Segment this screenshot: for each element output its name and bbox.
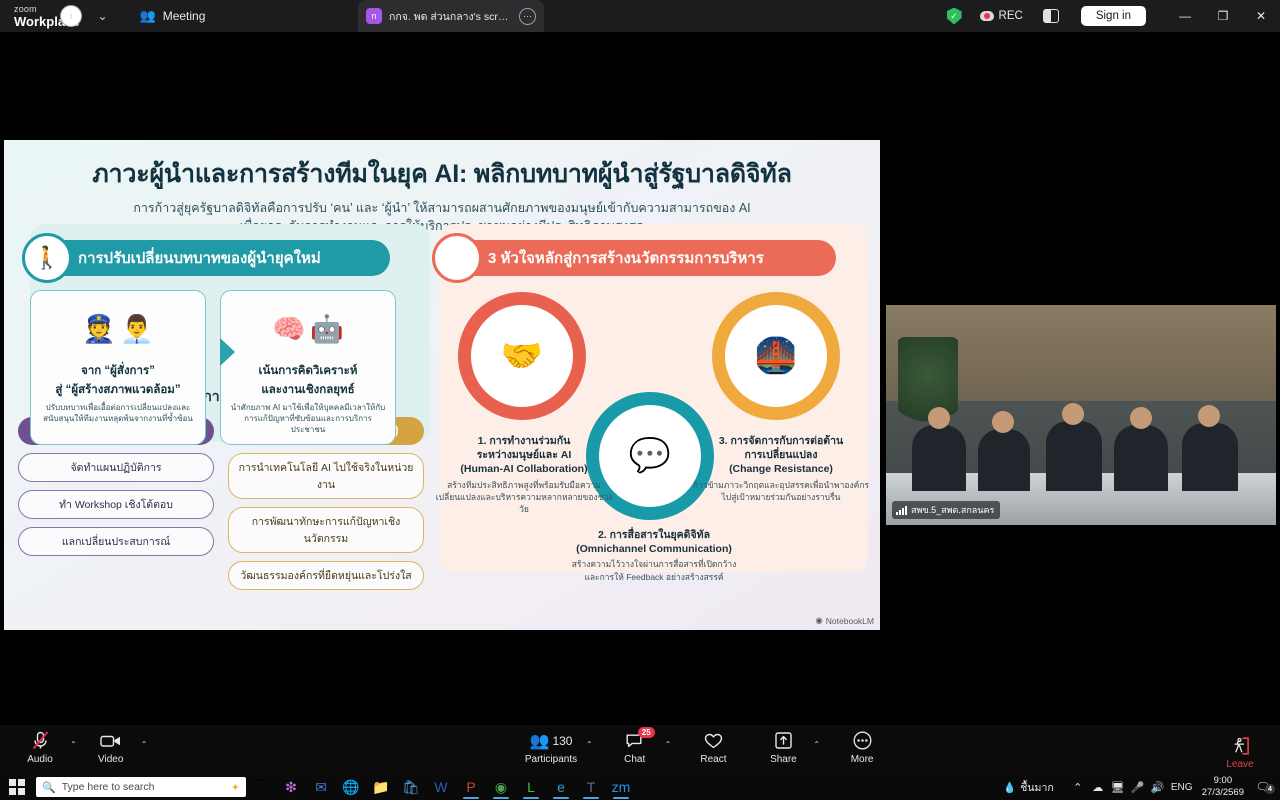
participants-icon: 👥130: [530, 730, 573, 751]
ai-chip-icon: 🤖: [310, 313, 344, 345]
brain-gear-icon: 🧠: [272, 313, 306, 345]
card-1-art: 👮 👨‍💼: [38, 297, 198, 361]
share-label: Share: [770, 754, 797, 765]
weather-label: ชื้นมาก: [1020, 779, 1053, 796]
video-button[interactable]: Video: [83, 725, 139, 765]
right-section-header: ❤ 3 หัวใจหลักสู่การสร้างนวัตกรรมการบริหา…: [440, 240, 836, 276]
search-icon: 🔍: [42, 781, 56, 794]
screen-share-tab[interactable]: ก กกจ. พด ส่วนกลาง's screen ⋯: [358, 0, 544, 32]
search-globe-icon[interactable]: 🌐: [336, 774, 366, 800]
close-button[interactable]: ✕: [1242, 0, 1280, 32]
cloud-record-icon: [980, 11, 994, 21]
person-1-head: [928, 407, 950, 429]
sign-in-button[interactable]: Sign in: [1081, 6, 1146, 26]
store-icon[interactable]: 🛍: [396, 774, 426, 800]
pillar-1-heading-en: (Human-AI Collaboration): [434, 462, 614, 476]
chat-unread-badge: 25: [638, 727, 655, 738]
person-5-head: [1198, 405, 1220, 427]
chat-button[interactable]: 25 Chat: [607, 725, 663, 765]
heart-icon: [704, 730, 723, 751]
card-2-heading-line1: เน้นการคิดวิเคราะห์: [228, 364, 388, 380]
notification-count: 4: [1265, 784, 1275, 794]
pillar-1-heading-line1: 1. การทำงานร่วมกัน: [434, 434, 614, 448]
video-label: Video: [98, 754, 123, 765]
card-2-art: 🧠 🤖: [228, 297, 388, 361]
person-4-head: [1130, 407, 1152, 429]
react-label: React: [700, 754, 726, 765]
meeting-toolbar: Audio ⌃ Video ⌃ 👥130 Participants ⌃ 25: [0, 725, 1280, 774]
volume-icon[interactable]: 🔊: [1148, 781, 1168, 794]
system-tray: 💧 ชื้นมาก ⌃ ☁ 🖥 🎤 🔊 ENG 9:00 27/3/2569 🗨…: [1003, 774, 1280, 800]
leave-button[interactable]: Leave: [1212, 730, 1268, 770]
pillar-3-heading-line1: 3. การจัดการกับการต่อต้าน: [692, 434, 870, 448]
react-button[interactable]: React: [685, 725, 741, 765]
clock-date: 27/3/2569: [1202, 787, 1244, 799]
audio-options-caret-icon[interactable]: ⌃: [68, 740, 77, 765]
info-icon[interactable]: i: [60, 5, 82, 27]
search-placeholder: Type here to search: [62, 781, 225, 793]
notification-center-icon[interactable]: 🗨4: [1252, 780, 1274, 794]
chat-label: Chat: [624, 754, 645, 765]
tab-more-icon[interactable]: ⋯: [519, 8, 536, 25]
zoom-icon[interactable]: zm: [606, 774, 636, 800]
outlook-icon[interactable]: ✉: [306, 774, 336, 800]
copilot-icon[interactable]: ❇: [276, 774, 306, 800]
right-section-header-label: 3 หัวใจหลักสู่การสร้างนวัตกรรมการบริหาร: [488, 246, 764, 270]
person-2-head: [992, 411, 1014, 433]
line-icon[interactable]: L: [516, 774, 546, 800]
card-1-heading-line2: สู่ “ผู้สร้างสภาพแวดล้อม”: [38, 383, 198, 399]
slide-subtitle-line1: การก้าวสู่ยุครัฐบาลดิจิทัลคือการปรับ ‘คน…: [50, 199, 834, 217]
recording-indicator[interactable]: REC: [980, 10, 1023, 22]
tab-favicon: ก: [366, 8, 382, 24]
meeting-tab[interactable]: 👥 Meeting: [140, 8, 206, 24]
person-5: [1182, 423, 1238, 491]
start-button[interactable]: [0, 779, 34, 795]
outcome-item-1: การนำเทคโนโลยี AI ไปใช้จริงในหน่วยงาน: [228, 453, 424, 499]
side-panel-icon[interactable]: [1043, 9, 1059, 23]
pillar-2-body: สร้างความไว้วางใจผ่านการสื่อสารที่เปิดกว…: [570, 558, 738, 583]
person-2: [978, 429, 1030, 491]
person-3-head: [1062, 403, 1084, 425]
audio-label: Audio: [27, 754, 53, 765]
pillar-1-circle: 🤝: [458, 292, 586, 420]
action-item-3: แลกเปลี่ยนประสบการณ์: [18, 527, 214, 556]
leader-change-icon: 🚶: [22, 233, 72, 283]
pillar-3-text: 3. การจัดการกับการต่อต้าน การเปลี่ยนแปลง…: [692, 434, 870, 503]
video-tile-name: สพข.5_สพด.สกลนคร: [911, 503, 994, 517]
more-button[interactable]: More: [834, 725, 890, 765]
video-tile-label: สพข.5_สพด.สกลนคร: [892, 501, 1000, 519]
participant-video-tile[interactable]: สพข.5_สพด.สกลนคร: [886, 305, 1276, 525]
clock-time: 9:00: [1202, 775, 1244, 787]
card-2-body: นำศักยภาพ AI มาใช้เพื่อให้บุคคลมีเวลาให้…: [228, 402, 388, 436]
chrome-icon[interactable]: ◉: [486, 774, 516, 800]
microphone-tray-icon[interactable]: 🎤: [1128, 781, 1148, 794]
word-icon[interactable]: W: [426, 774, 456, 800]
signal-bars-icon: [896, 506, 907, 515]
three-pillars: 🤝 🌉 💬 1. การทำงานร่วมกัน ระหว่างมนุษย์แล…: [440, 292, 868, 622]
microphone-muted-icon: [32, 730, 49, 751]
language-indicator[interactable]: ENG: [1168, 782, 1196, 793]
maximize-button[interactable]: ❐: [1204, 0, 1242, 32]
right-column: ❤ 3 หัวใจหลักสู่การสร้างนวัตกรรมการบริหา…: [440, 240, 868, 622]
windows-taskbar: 🔍 Type here to search ✦ 🗔 ❇ ✉ 🌐 📁 🛍 W P …: [0, 774, 1280, 800]
security-shield-icon[interactable]: [947, 8, 962, 25]
pillar-3-body: ก้าวข้ามภาวะวิกฤตและอุปสรรคเพื่อนำพาองค์…: [692, 479, 870, 504]
leave-door-icon: [1230, 735, 1250, 756]
left-column: 🚶 การปรับเปลี่ยนบทบาทของผู้นำยุคใหม่ 👮 👨…: [30, 240, 430, 445]
meeting-label: Meeting: [163, 9, 206, 23]
pillar-1-body: สร้างทีมประสิทธิภาพสูงที่พร้อมรับมือความ…: [434, 479, 614, 516]
network-icon[interactable]: 🖥: [1108, 781, 1128, 794]
pillar-3-heading-line2: การเปลี่ยนแปลง: [692, 448, 870, 462]
participants-caret-icon[interactable]: ⌃: [584, 740, 593, 765]
pillar-3-heading-en: (Change Resistance): [692, 462, 870, 476]
task-view-icon[interactable]: 🗔: [246, 774, 276, 800]
edge-icon[interactable]: e: [546, 774, 576, 800]
meeting-stage: ภาวะผู้นำและการสร้างทีมในยุค AI: พลิกบทบ…: [0, 32, 1280, 725]
toolbar-center-group: 👥130 Participants ⌃ 25 Chat ⌃ React: [518, 725, 890, 765]
toolbar-left-group: Audio ⌃ Video ⌃: [12, 725, 147, 765]
pillar-2-heading-line1: 2. การสื่อสารในยุคดิจิทัล: [570, 528, 738, 542]
action-item-1: จัดทำแผนปฏิบัติการ: [18, 453, 214, 482]
heart-circuit-icon: ❤: [432, 233, 482, 283]
search-input[interactable]: 🔍 Type here to search ✦: [36, 777, 246, 797]
people-icon: 👥: [140, 8, 156, 24]
left-card-2: 🧠 🤖 เน้นการคิดวิเคราะห์ และงานเชิงกลยุทธ…: [220, 290, 396, 445]
pillar-2-text: 2. การสื่อสารในยุคดิจิทัล (Omnichannel C…: [570, 528, 738, 583]
participants-button[interactable]: 👥130 Participants: [518, 725, 584, 765]
minimize-button[interactable]: —: [1166, 0, 1204, 32]
handshake-human-ai-icon: 🤝: [501, 336, 543, 376]
share-caret-icon[interactable]: ⌃: [811, 740, 820, 765]
pillar-1-text: 1. การทำงานร่วมกัน ระหว่างมนุษย์และ AI (…: [434, 434, 614, 515]
ellipsis-icon: [853, 730, 872, 751]
left-cards: 👮 👨‍💼 จาก “ผู้สั่งการ” สู่ “ผู้สร้างสภาพ…: [30, 290, 430, 445]
zoom-title-bar: zoom Workplace i ⌄ 👥 Meeting ก กกจ. พด ส…: [0, 0, 1280, 32]
outcome-item-2: การพัฒนาทักษะการแก้ปัญหาเชิงนวัตกรรม: [228, 507, 424, 553]
teams-icon[interactable]: T: [576, 774, 606, 800]
participants-label: Participants: [525, 754, 577, 765]
judge-officer-icon: 👮: [82, 313, 116, 345]
humidity-icon: 💧: [1003, 781, 1016, 794]
pillar-1-heading-line2: ระหว่างมนุษย์และ AI: [434, 448, 614, 462]
video-background: [886, 305, 1276, 525]
onedrive-icon[interactable]: ☁: [1088, 781, 1108, 794]
card-1-body: ปรับบทบาทเพื่อเอื้อต่อการเปลี่ยนแปลงและส…: [38, 402, 198, 424]
share-screen-icon: [775, 730, 792, 751]
shared-slide[interactable]: ภาวะผู้นำและการสร้างทีมในยุค AI: พลิกบทบ…: [4, 140, 880, 630]
tab-title: กกจ. พด ส่วนกลาง's screen: [389, 8, 512, 25]
pillar-3-circle: 🌉: [712, 292, 840, 420]
video-options-caret-icon[interactable]: ⌃: [139, 740, 148, 765]
slide-title: ภาวะผู้นำและการสร้างทีมในยุค AI: พลิกบทบ…: [4, 154, 880, 194]
leave-label: Leave: [1226, 759, 1253, 770]
participants-count: 130: [552, 734, 572, 748]
outcome-item-3: วัฒนธรรมองค์กรที่ยืดหยุ่นและโปร่งใส: [228, 561, 424, 590]
camera-icon: [100, 730, 122, 751]
chat-caret-icon[interactable]: ⌃: [663, 740, 672, 765]
left-section-header: 🚶 การปรับเปลี่ยนบทบาทของผู้นำยุคใหม่: [30, 240, 390, 276]
person-3: [1046, 421, 1102, 491]
windows-logo-icon: [9, 779, 25, 795]
left-section-header-label: การปรับเปลี่ยนบทบาทของผู้นำยุคใหม่: [78, 246, 321, 270]
left-card-1: 👮 👨‍💼 จาก “ผู้สั่งการ” สู่ “ผู้สร้างสภาพ…: [30, 290, 206, 445]
card-1-heading-line1: จาก “ผู้สั่งการ”: [38, 364, 198, 380]
arrow-right-icon: [220, 338, 235, 366]
audio-button[interactable]: Audio: [12, 725, 68, 765]
clock[interactable]: 9:00 27/3/2569: [1202, 775, 1244, 799]
weather-widget[interactable]: 💧 ชื้นมาก: [1003, 779, 1054, 796]
copilot-sparkle-icon: ✦: [231, 781, 240, 794]
action-item-2: ทำ Workshop เชิงโต้ตอบ: [18, 490, 214, 519]
rec-label: REC: [999, 10, 1023, 22]
tray-expand-icon[interactable]: ⌃: [1068, 781, 1088, 794]
person-4: [1114, 425, 1168, 491]
file-explorer-icon[interactable]: 📁: [366, 774, 396, 800]
chevron-down-icon[interactable]: ⌄: [92, 5, 114, 27]
bridge-target-icon: 🌉: [755, 336, 797, 376]
powerpoint-icon[interactable]: P: [456, 774, 486, 800]
share-button[interactable]: Share: [755, 725, 811, 765]
team-meeting-icon: 👨‍💼: [120, 313, 154, 345]
card-2-heading-line2: และงานเชิงกลยุทธ์: [228, 383, 388, 399]
window-controls-group: REC Sign in — ❐ ✕: [947, 0, 1280, 32]
pillar-2-heading-en: (Omnichannel Communication): [570, 542, 738, 556]
omnichannel-hub-icon: 💬: [629, 436, 671, 476]
person-1: [912, 425, 966, 491]
more-label: More: [851, 754, 874, 765]
